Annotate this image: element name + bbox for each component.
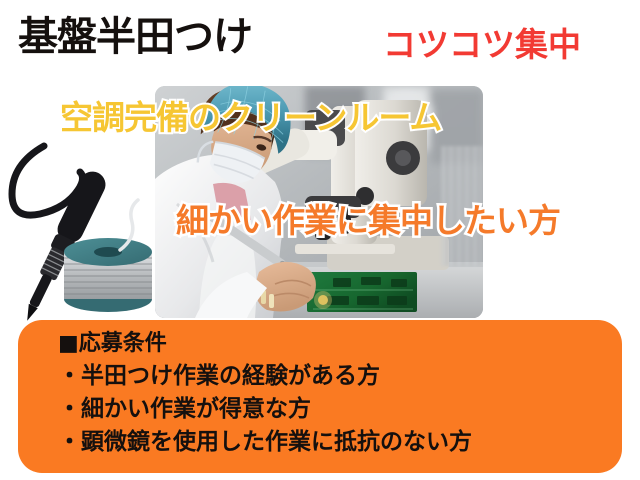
page-title: 基盤半田つけ xyxy=(18,17,252,57)
catch-red-label: コツコツ集中 xyxy=(383,28,581,61)
list-item: ・顕微鏡を使用した作業に抵抗のない方 xyxy=(58,426,622,459)
conditions-heading: ■応募条件 xyxy=(58,332,622,356)
job-ad-banner: 基盤半田つけ コツコツ集中 空調完備のクリーンルーム 細かい作業に集中したい方 … xyxy=(0,0,640,480)
soldering-iron-illustration xyxy=(4,142,154,328)
application-conditions-box: ■応募条件 ・半田つけ作業の経験がある方 ・細かい作業が得意な方 ・顕微鏡を使用… xyxy=(18,320,622,473)
list-item: ・細かい作業が得意な方 xyxy=(58,393,622,426)
catch-yellow-label: 空調完備のクリーンルーム xyxy=(60,101,441,134)
conditions-list: ・半田つけ作業の経験がある方 ・細かい作業が得意な方 ・顕微鏡を使用した作業に抵… xyxy=(58,360,622,458)
list-item: ・半田つけ作業の経験がある方 xyxy=(58,360,622,393)
catch-orange-label: 細かい作業に集中したい方 xyxy=(176,204,560,237)
